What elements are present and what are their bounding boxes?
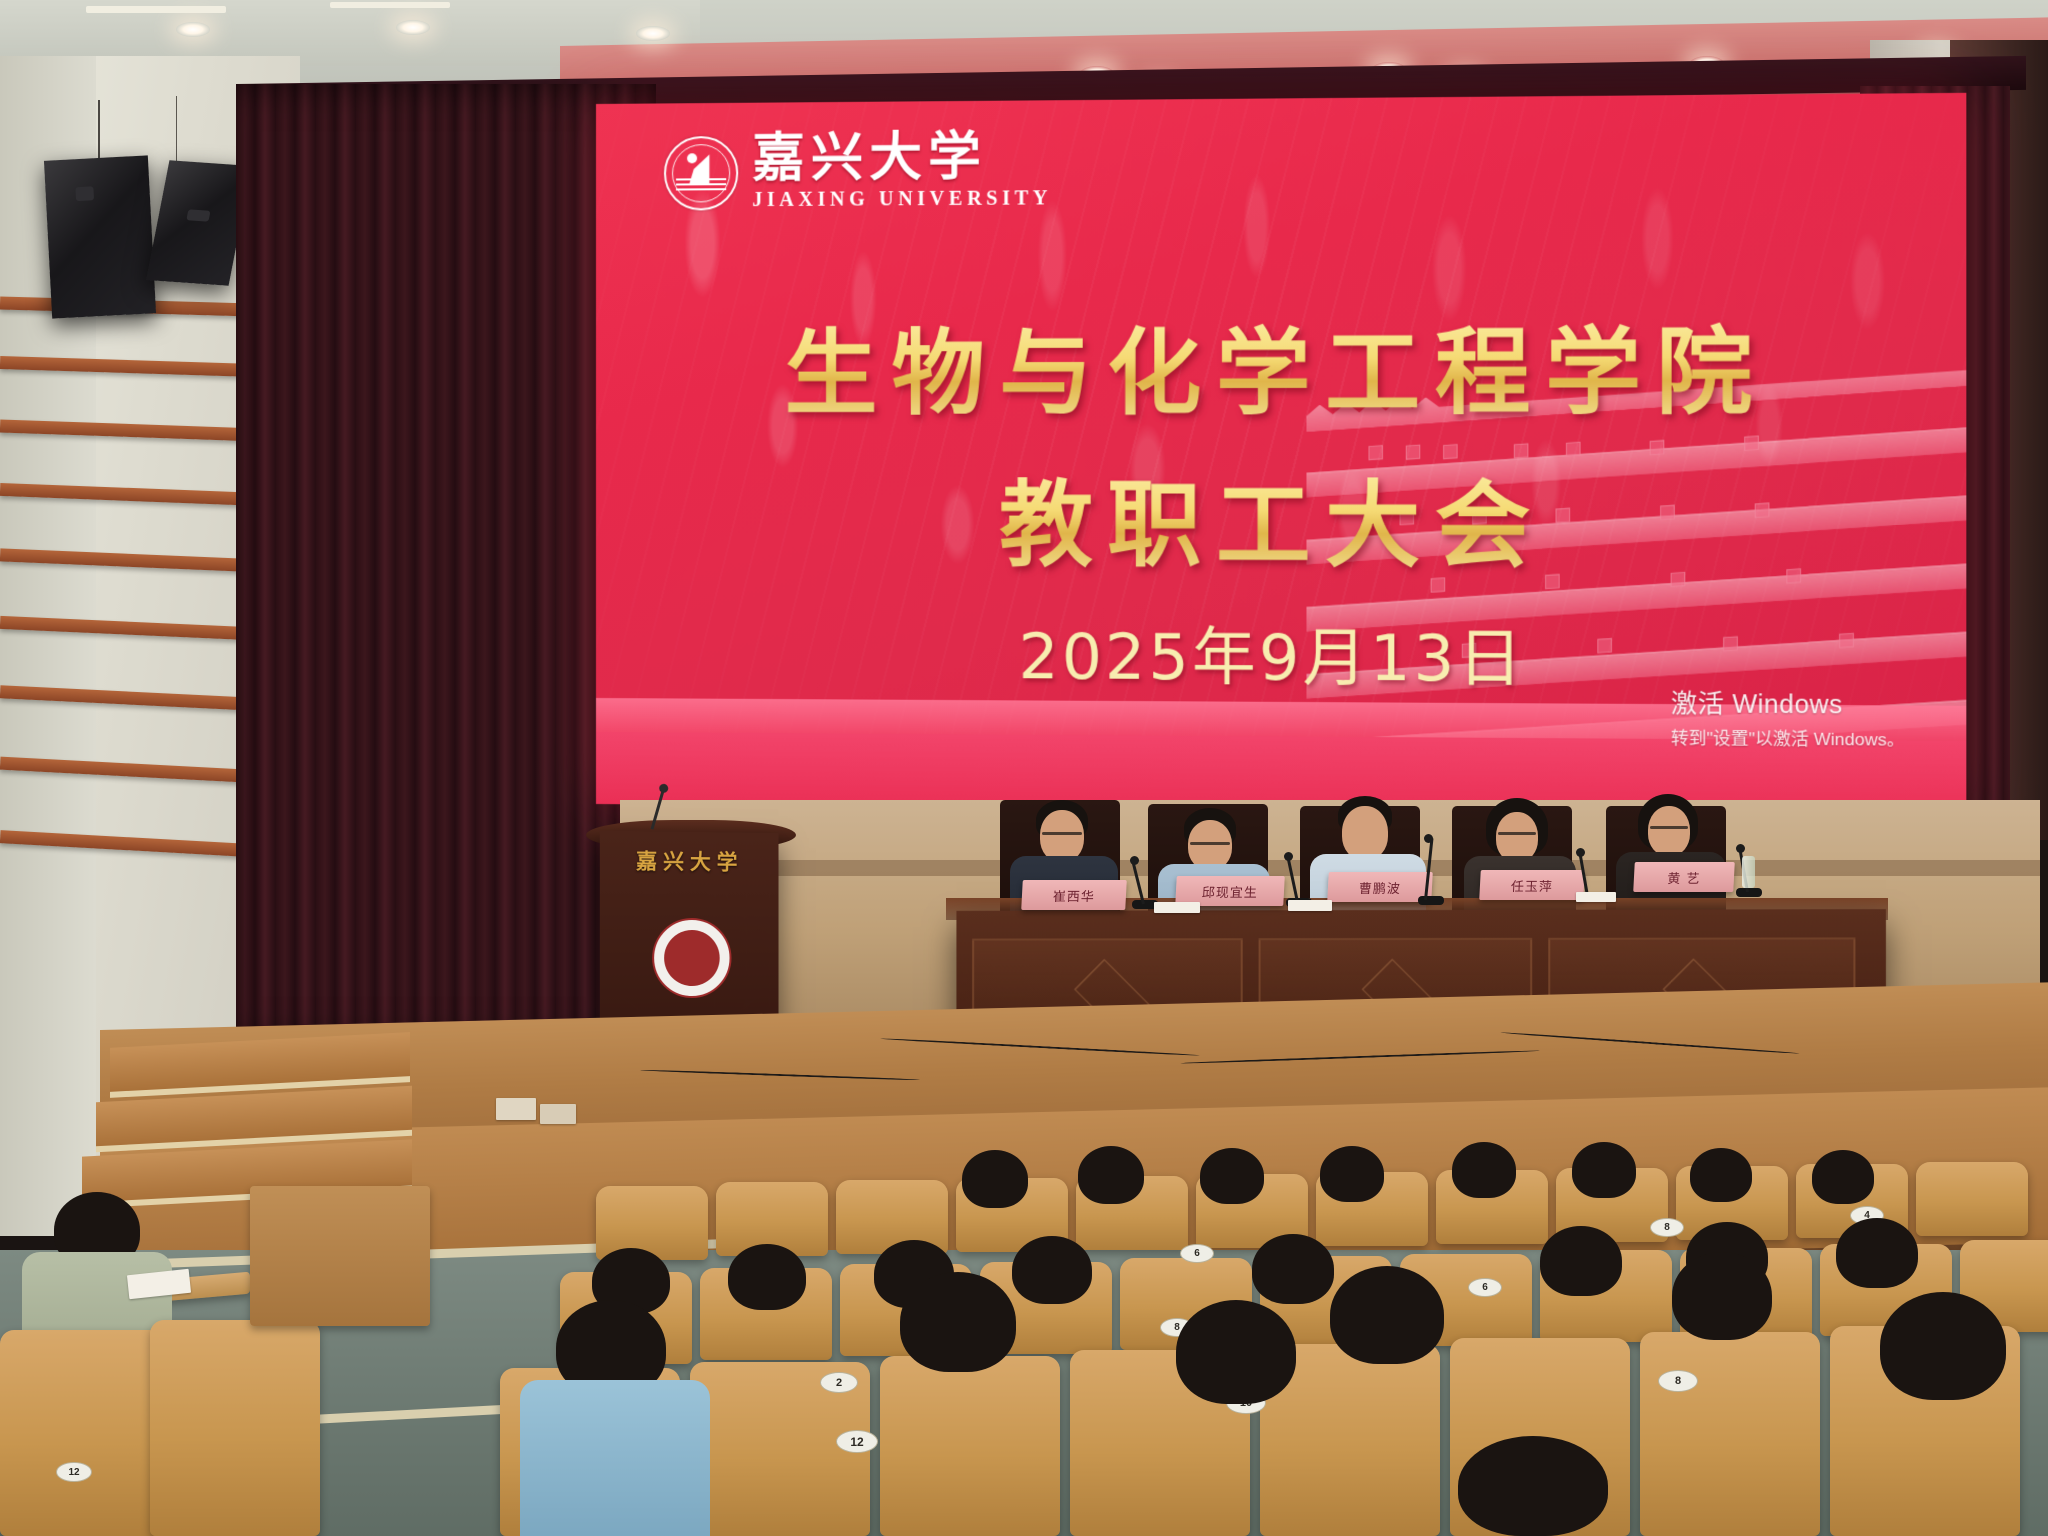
- speaker-suspension-wire: [176, 96, 177, 166]
- ceiling-light-strip: [86, 6, 226, 13]
- seal-wave-lines: [676, 178, 727, 192]
- auditorium-photo: 嘉兴大学 JIAXING UNIVERSITY 生物与化学工程学院 教职工大会 …: [0, 0, 2048, 1536]
- seat-number-badge: 12: [56, 1462, 92, 1482]
- building-window: [1744, 436, 1759, 451]
- audience-head: [1540, 1226, 1622, 1296]
- panel-member-glasses: [1650, 826, 1688, 829]
- stage-floor-object: [496, 1098, 536, 1120]
- seat-number-badge: 6: [1180, 1244, 1214, 1263]
- panel-member-head: [1342, 806, 1388, 860]
- aisle-rail: [250, 1186, 430, 1326]
- ceiling-spotlight: [636, 26, 670, 41]
- microphone-head: [1284, 852, 1293, 861]
- podium-label: 嘉兴大学: [600, 845, 779, 877]
- audience-head-foreground: [1176, 1300, 1296, 1404]
- speaker-suspension-wire: [98, 100, 100, 158]
- audience-head-foreground: [1880, 1292, 2006, 1400]
- speaker-left: [44, 155, 156, 318]
- microphone-head: [1424, 834, 1433, 843]
- ceiling-spotlight: [396, 20, 430, 35]
- audience-head: [1320, 1146, 1384, 1202]
- seat-back: [1916, 1162, 2028, 1236]
- panel-member-glasses: [1042, 832, 1082, 835]
- document-paper: [1576, 892, 1616, 902]
- seat-number-badge: 8: [1658, 1370, 1698, 1392]
- audience-head: [1252, 1234, 1334, 1304]
- seat-back: [880, 1356, 1060, 1536]
- panel-member-head: [1188, 820, 1232, 870]
- ceiling-spotlight: [176, 22, 210, 37]
- microphone-head: [1130, 856, 1139, 865]
- audience-head: [1836, 1218, 1918, 1288]
- audience-head: [1812, 1150, 1874, 1204]
- audience-head: [1078, 1146, 1144, 1204]
- seat-number-badge: 12: [836, 1430, 878, 1453]
- panel-member-head: [1496, 812, 1538, 862]
- university-name-en: JIAXING UNIVERSITY: [752, 187, 1052, 212]
- university-logo-lockup: 嘉兴大学 JIAXING UNIVERSITY: [664, 131, 1052, 213]
- water-bottle: [1742, 856, 1755, 888]
- screen-surface: 嘉兴大学 JIAXING UNIVERSITY 生物与化学工程学院 教职工大会 …: [596, 93, 1966, 815]
- sailboat-seal-icon: [664, 135, 738, 210]
- nameplate: 曹鹏波: [1327, 872, 1433, 902]
- nameplate: 黄 艺: [1633, 862, 1735, 892]
- microphone-head: [1576, 848, 1585, 857]
- microphone-base: [1418, 896, 1444, 905]
- panel-member-head: [1648, 806, 1690, 856]
- watermark-subtext: 转到"设置"以激活 Windows。: [1671, 724, 1905, 751]
- panel-member-head: [1040, 810, 1084, 862]
- seat-back: [150, 1320, 320, 1536]
- audience-head-foreground: [1330, 1266, 1444, 1364]
- audience-head: [1200, 1148, 1264, 1204]
- stage-floor-object: [540, 1104, 576, 1124]
- seat-number-badge: 8: [1650, 1218, 1684, 1237]
- screen-title-line-2: 教职工大会: [596, 450, 1966, 587]
- seat-back: [596, 1186, 708, 1260]
- seat-back: [0, 1330, 170, 1536]
- audience-head: [1690, 1148, 1752, 1202]
- microphone-head: [1736, 844, 1745, 853]
- document-paper: [1154, 902, 1200, 913]
- microphone-base: [1736, 888, 1762, 897]
- nameplate: 任玉萍: [1479, 870, 1585, 900]
- university-name-cn: 嘉兴大学: [752, 131, 1052, 185]
- audience-body-foreground: [520, 1380, 710, 1536]
- screen-title-line-1: 生物与化学工程学院: [596, 295, 1966, 433]
- speaker-port: [75, 186, 94, 201]
- nameplate: 崔西华: [1021, 880, 1127, 910]
- audience-head-foreground: [1672, 1252, 1772, 1340]
- audience-head: [962, 1150, 1028, 1208]
- audience-head: [728, 1244, 806, 1310]
- seal-sail-accent: [687, 153, 697, 163]
- panel-member-glasses: [1190, 842, 1230, 845]
- seat-number-badge: 2: [820, 1372, 858, 1393]
- audience-head: [1572, 1142, 1636, 1198]
- document-paper: [1288, 900, 1332, 911]
- windows-activation-watermark: 激活 Windows 转到"设置"以激活 Windows。: [1671, 684, 1905, 751]
- speaker-port: [186, 209, 210, 221]
- audience-head: [1452, 1142, 1516, 1198]
- stage-curtain-left: [236, 84, 656, 1044]
- seat-back: [1640, 1332, 1820, 1536]
- watermark-heading: 激活 Windows: [1671, 684, 1905, 722]
- seat-number-badge: 6: [1468, 1278, 1502, 1297]
- audience-head: [1012, 1236, 1092, 1304]
- audience-head-foreground: [1458, 1436, 1608, 1536]
- ceiling-light-strip: [330, 2, 450, 8]
- university-seal-icon: [652, 918, 731, 998]
- audience-head-foreground: [900, 1272, 1016, 1372]
- panel-member-glasses: [1498, 832, 1536, 835]
- led-presentation-screen: 嘉兴大学 JIAXING UNIVERSITY 生物与化学工程学院 教职工大会 …: [596, 93, 1966, 815]
